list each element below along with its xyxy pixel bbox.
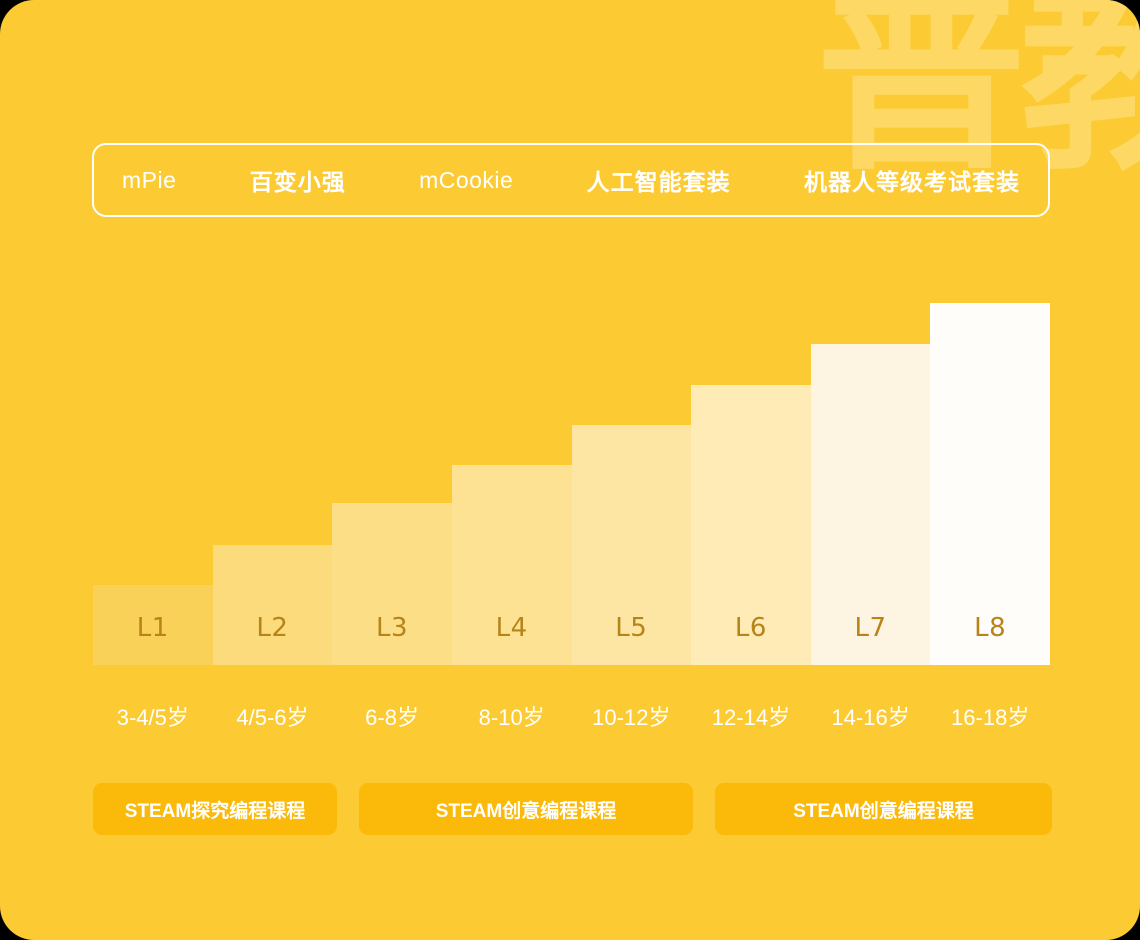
age-range-row: 3-4/5岁 4/5-6岁 6-8岁 8-10岁 10-12岁 12-14岁 1… bbox=[93, 700, 1050, 734]
bar-label-l3: L3 bbox=[376, 613, 408, 665]
age-label-l8: 16-18岁 bbox=[930, 700, 1050, 734]
bar-label-l1: L1 bbox=[137, 613, 169, 665]
bar-label-l4: L4 bbox=[496, 613, 528, 665]
bar-l6[interactable]: L6 bbox=[691, 385, 811, 665]
pill-divider-1 bbox=[337, 783, 359, 835]
bar-l4[interactable]: L4 bbox=[452, 465, 572, 665]
tab-mcookie[interactable]: mCookie bbox=[419, 167, 513, 194]
age-label-l2: 4/5-6岁 bbox=[213, 700, 333, 734]
age-label-l3: 6-8岁 bbox=[332, 700, 452, 734]
bar-l8[interactable]: L8 bbox=[930, 303, 1050, 665]
tab-mpie[interactable]: mPie bbox=[122, 167, 176, 194]
bar-l1[interactable]: L1 bbox=[93, 585, 213, 665]
bar-l7[interactable]: L7 bbox=[811, 344, 931, 665]
product-tab-bar: mPie 百变小强 mCookie 人工智能套装 机器人等级考试套装 bbox=[92, 143, 1050, 217]
bar-l3[interactable]: L3 bbox=[332, 503, 452, 665]
age-label-l4: 8-10岁 bbox=[452, 700, 572, 734]
age-label-l7: 14-16岁 bbox=[811, 700, 931, 734]
bar-l5[interactable]: L5 bbox=[572, 425, 692, 665]
course-level-card: 普教 mPie 百变小强 mCookie 人工智能套装 机器人等级考试套装 L1… bbox=[0, 0, 1140, 940]
bar-label-l7: L7 bbox=[855, 613, 887, 665]
age-label-l5: 10-12岁 bbox=[572, 700, 692, 734]
bar-label-l8: L8 bbox=[974, 613, 1006, 665]
bar-l2[interactable]: L2 bbox=[213, 545, 333, 665]
bar-label-l6: L6 bbox=[735, 613, 767, 665]
tab-ai-kit[interactable]: 人工智能套装 bbox=[587, 163, 731, 197]
tab-robot-exam-kit[interactable]: 机器人等级考试套装 bbox=[804, 163, 1020, 197]
bar-label-l2: L2 bbox=[256, 613, 288, 665]
pill-divider-2 bbox=[693, 783, 715, 835]
tab-baibianxiaoqiang[interactable]: 百变小强 bbox=[250, 163, 346, 197]
age-label-l1: 3-4/5岁 bbox=[93, 700, 213, 734]
level-bar-chart: L1 L2 L3 L4 L5 L6 L7 L8 bbox=[93, 288, 1050, 665]
course-pill-creative-programming-2[interactable]: STEAM创意编程课程 bbox=[715, 783, 1052, 835]
bar-label-l5: L5 bbox=[615, 613, 647, 665]
course-pill-row: STEAM探究编程课程 STEAM创意编程课程 STEAM创意编程课程 bbox=[93, 783, 1050, 835]
course-pill-explore-programming[interactable]: STEAM探究编程课程 bbox=[93, 783, 337, 835]
chart-baseline bbox=[93, 665, 1050, 668]
age-label-l6: 12-14岁 bbox=[691, 700, 811, 734]
course-pill-creative-programming-1[interactable]: STEAM创意编程课程 bbox=[359, 783, 693, 835]
